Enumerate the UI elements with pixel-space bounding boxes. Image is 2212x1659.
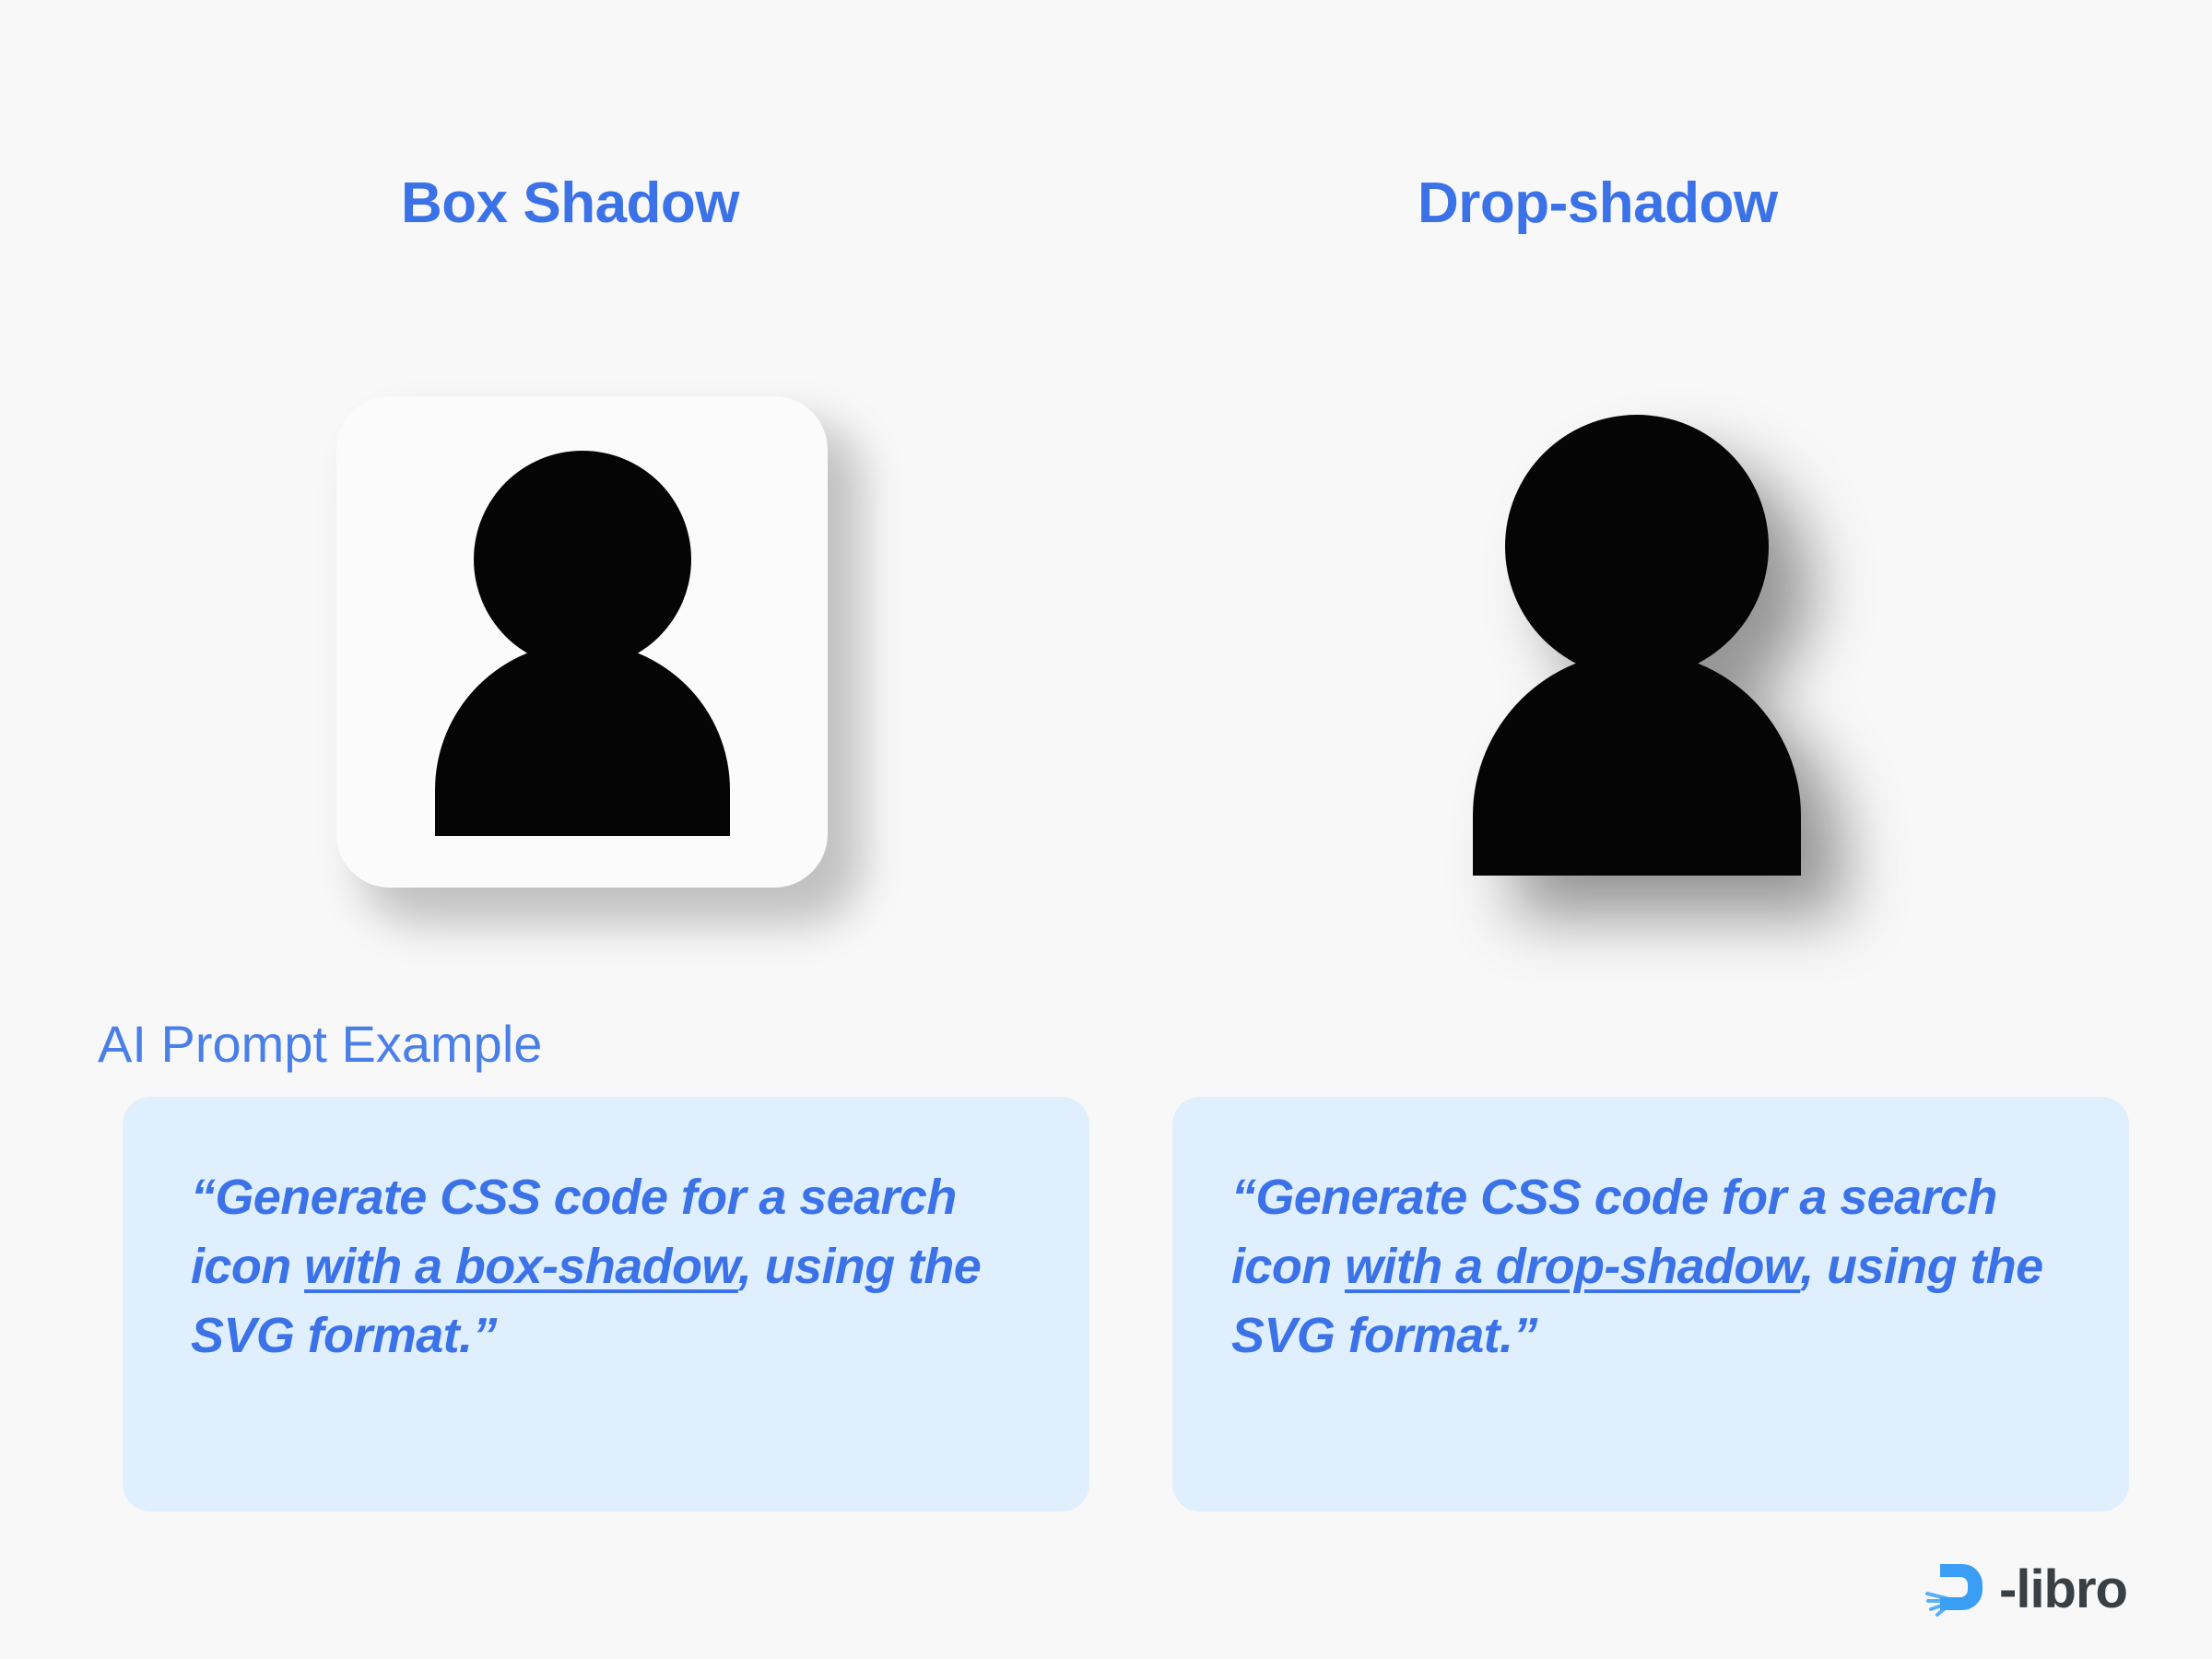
close-quote: ”	[1512, 1308, 1536, 1363]
column-heading-drop-shadow: Drop-shadow	[1418, 171, 1778, 236]
ai-prompt-example-label: AI Prompt Example	[98, 1014, 542, 1074]
user-avatar-icon	[1464, 415, 1851, 876]
close-quote: ”	[472, 1308, 496, 1363]
prompt-text: “Generate CSS code for a search icon wit…	[1231, 1163, 2070, 1371]
prompt-card-drop-shadow: “Generate CSS code for a search icon wit…	[1172, 1097, 2129, 1512]
prompt-text-underlined: with a drop-shadow	[1345, 1239, 1800, 1294]
drop-shadow-demo-figure	[1464, 415, 1851, 876]
open-quote: “	[1231, 1170, 1255, 1225]
box-shadow-demo-tile	[336, 396, 828, 888]
slide-canvas: Box Shadow Drop-shadow AI Prompt Example…	[0, 0, 2212, 1659]
prompt-text: “Generate CSS code for a search icon wit…	[191, 1163, 1021, 1371]
d-libro-logo: -libro	[1925, 1557, 2127, 1622]
user-avatar-icon	[398, 449, 767, 836]
open-quote: “	[191, 1170, 215, 1225]
prompt-text-underlined: with a box-shadow	[304, 1239, 738, 1294]
d-libro-book-mark-icon	[1925, 1557, 1994, 1622]
column-heading-box-shadow: Box Shadow	[401, 171, 739, 236]
prompt-card-box-shadow: “Generate CSS code for a search icon wit…	[123, 1097, 1089, 1512]
logo-wordmark: -libro	[1999, 1563, 2127, 1617]
